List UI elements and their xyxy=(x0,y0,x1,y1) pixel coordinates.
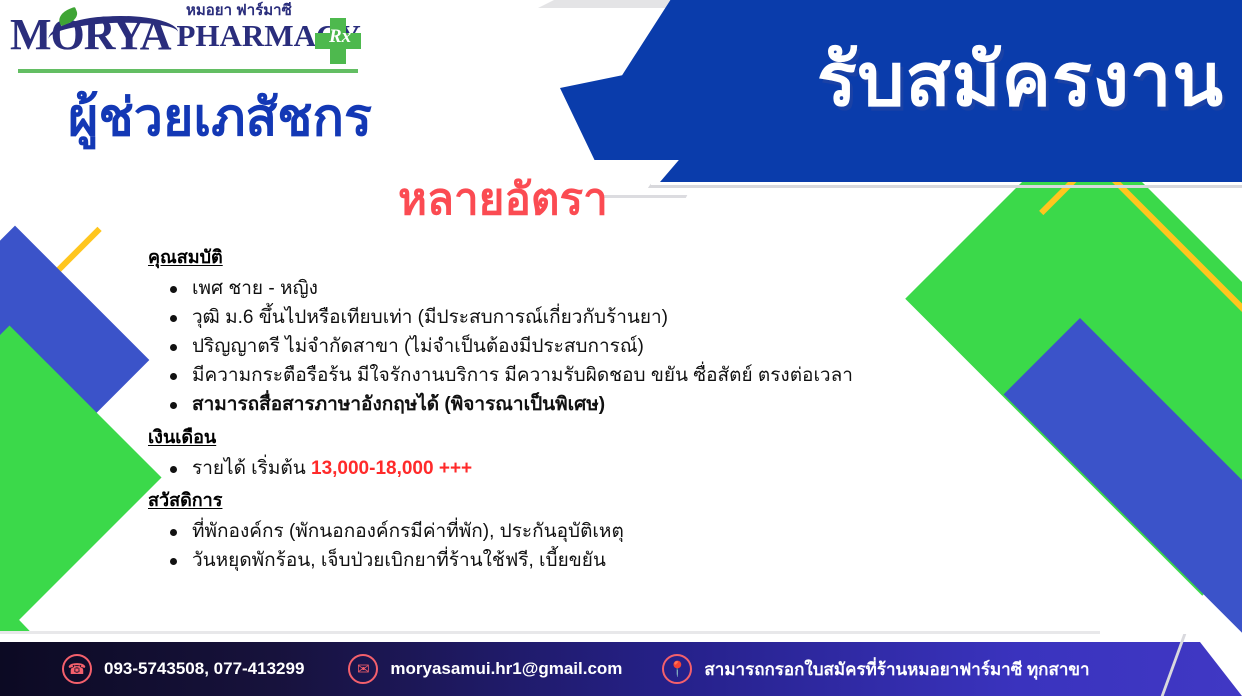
salary-amount: 13,000-18,000 +++ xyxy=(311,458,472,479)
logo-thai-subtitle: หมอยา ฟาร์มาซี xyxy=(186,0,292,22)
salary-heading: เงินเดือน xyxy=(148,422,908,451)
poster-canvas: รับสมัครงาน MORYA PHARMACY หมอยา ฟาร์มาซ… xyxy=(0,0,1242,696)
phone-number-text: 093-5743508, 077-413299 xyxy=(104,659,304,679)
phone-icon: ☎ xyxy=(62,654,92,684)
banner-title-text: รับสมัครงาน xyxy=(560,0,1242,160)
green-diamond-left-decoration xyxy=(0,325,162,629)
salary-list: รายได้ เริ่มต้น 13,000-18,000 +++ xyxy=(166,455,908,483)
blue-diamond-left-decoration xyxy=(0,226,149,495)
logo-underline-divider xyxy=(18,69,358,73)
footer-white-strip xyxy=(0,634,1242,642)
list-item: เพศ ชาย - หญิง xyxy=(166,275,908,303)
salary-label: รายได้ เริ่มต้น xyxy=(192,458,311,479)
list-item: วุฒิ ม.6 ขึ้นไปหรือเทียบเท่า (มีประสบการ… xyxy=(166,304,908,332)
contact-email[interactable]: ✉ moryasamui.hr1@gmail.com xyxy=(348,654,622,684)
contact-location[interactable]: 📍 สามารถกรอกใบสมัครที่ร้านหมอยาฟาร์มาซี … xyxy=(662,654,1089,684)
recruitment-banner: รับสมัครงาน xyxy=(560,0,1242,160)
location-note-text: สามารถกรอกใบสมัครที่ร้านหมอยาฟาร์มาซี ทุ… xyxy=(704,656,1089,683)
qualifications-list: เพศ ชาย - หญิง วุฒิ ม.6 ขึ้นไปหรือเทียบเ… xyxy=(166,275,908,420)
list-item: วันหยุดพักร้อน, เจ็บป่วยเบิกยาที่ร้านใช้… xyxy=(166,547,908,575)
contact-footer: ☎ 093-5743508, 077-413299 ✉ moryasamui.h… xyxy=(0,642,1242,696)
list-item-highlighted: สามารถสื่อสารภาษาอังกฤษได้ (พิจารณาเป็นพ… xyxy=(166,391,908,419)
list-item: มีความกระตือรือร้น มีใจรักงานบริการ มีคว… xyxy=(166,362,908,390)
vacancy-count-title: หลายอัตรา xyxy=(398,178,608,222)
qualifications-heading: คุณสมบัติ xyxy=(148,242,908,271)
yellow-line-right-decoration xyxy=(1090,156,1242,457)
envelope-icon: ✉ xyxy=(348,654,378,684)
email-address-text: moryasamui.hr1@gmail.com xyxy=(390,659,622,679)
job-position-title: ผู้ช่วยเภสัชกร xyxy=(68,92,372,144)
rx-symbol-text: Rx xyxy=(329,26,351,48)
brand-logo: MORYA PHARMACY หมอยา ฟาร์มาซี Rx xyxy=(10,14,360,56)
benefits-heading: สวัสดิการ xyxy=(148,485,908,514)
location-pin-icon: 📍 xyxy=(662,654,692,684)
pharmacy-cross-icon: Rx xyxy=(314,18,362,66)
contact-phone[interactable]: ☎ 093-5743508, 077-413299 xyxy=(62,654,304,684)
list-item: รายได้ เริ่มต้น 13,000-18,000 +++ xyxy=(166,455,908,483)
green-band-right-decoration xyxy=(905,122,1242,596)
yellow-line-right-upper-decoration xyxy=(1039,160,1094,215)
blue-band-right-decoration xyxy=(1004,318,1242,663)
list-item: ที่พักองค์กร (พักนอกองค์กรมีค่าที่พัก), … xyxy=(166,518,908,546)
job-details-content: คุณสมบัติ เพศ ชาย - หญิง วุฒิ ม.6 ขึ้นไป… xyxy=(148,240,908,576)
benefits-list: ที่พักองค์กร (พักนอกองค์กรมีค่าที่พัก), … xyxy=(166,518,908,575)
list-item: ปริญญาตรี ไม่จำกัดสาขา (ไม่จำเป็นต้องมีป… xyxy=(166,333,908,361)
